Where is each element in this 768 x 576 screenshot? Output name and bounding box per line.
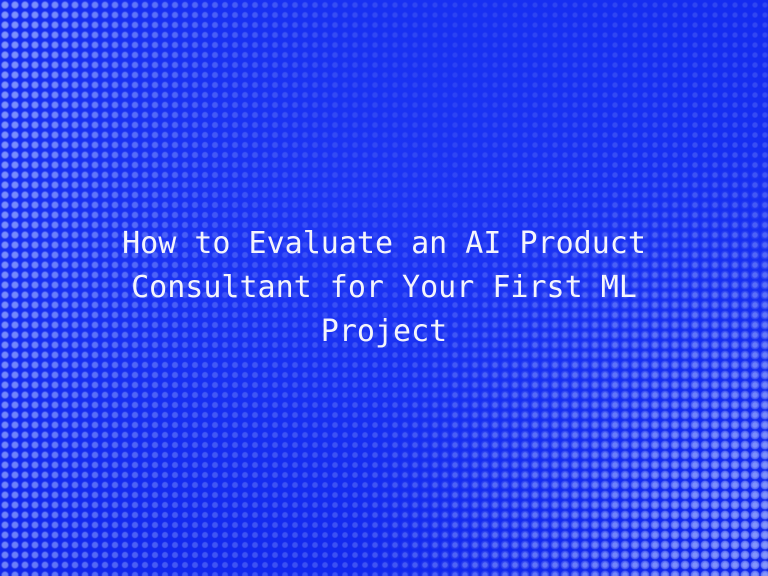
hero-title-container: How to Evaluate an AI Product Consultant…: [0, 222, 768, 354]
hero-title: How to Evaluate an AI Product Consultant…: [114, 222, 654, 354]
hero-card: How to Evaluate an AI Product Consultant…: [0, 0, 768, 576]
